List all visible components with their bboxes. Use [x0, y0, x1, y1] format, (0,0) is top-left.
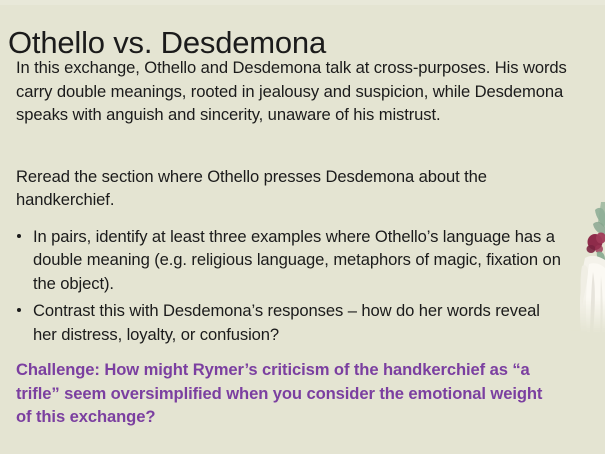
- task-bullet-list: In pairs, identify at least three exampl…: [16, 225, 578, 347]
- task-instruction: Reread the section where Othello presses…: [16, 165, 564, 212]
- challenge-prompt: Challenge: How might Rymer’s criticism o…: [16, 358, 556, 429]
- list-item: In pairs, identify at least three exampl…: [16, 225, 563, 296]
- list-item-label: In pairs, identify at least three exampl…: [33, 227, 561, 293]
- bullet-dot-icon: [17, 234, 21, 238]
- slide-body: In this exchange, Othello and Desdemona …: [16, 56, 578, 429]
- intro-paragraph: In this exchange, Othello and Desdemona …: [16, 56, 578, 127]
- paragraph-spacer: [16, 127, 578, 165]
- slide-top-edge-strip: [0, 0, 605, 5]
- bullet-dot-icon: [17, 308, 21, 312]
- list-item-label: Contrast this with Desdemona’s responses…: [33, 301, 540, 344]
- list-item: Contrast this with Desdemona’s responses…: [16, 299, 563, 346]
- slide: Othello vs. Desdemona In this exchange, …: [0, 0, 605, 454]
